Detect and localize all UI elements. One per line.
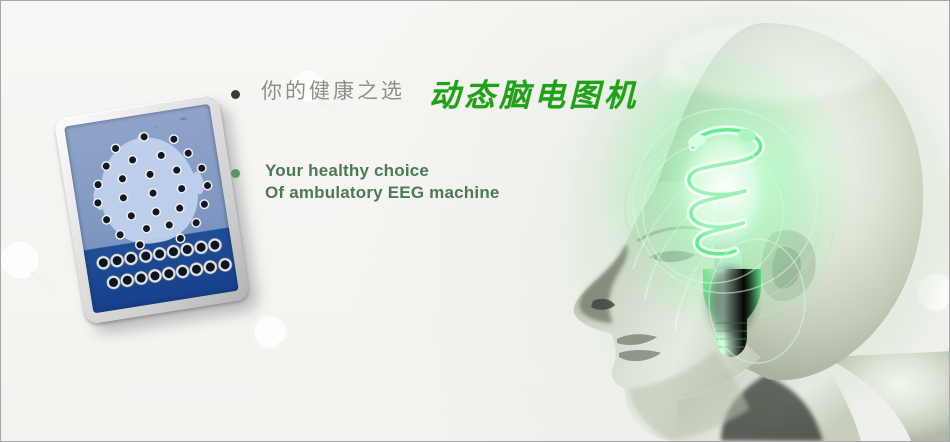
electrode-socket <box>168 247 178 257</box>
socket-layer <box>64 104 209 127</box>
electrode-contact <box>151 207 159 215</box>
electrode-contact <box>170 136 178 144</box>
english-tagline-line1: Your healthy choice <box>265 161 429 180</box>
electrode-layer <box>64 104 209 127</box>
eeg-product-banner: L REF 你的健康之选 动态脑电图机 Your healthy choice … <box>0 0 950 442</box>
electrode-socket <box>140 251 150 261</box>
device-electrode-panel: L REF <box>64 104 239 314</box>
electrode-socket <box>210 240 220 250</box>
electrode-contact <box>192 218 200 226</box>
english-tagline: Your healthy choice Of ambulatory EEG ma… <box>265 160 500 204</box>
chinese-product-title: 动态脑电图机 <box>429 81 639 112</box>
electrode-contact <box>128 156 136 164</box>
electrode-contact <box>142 224 150 232</box>
bullet-green-icon <box>231 169 240 178</box>
electrode-contact <box>184 149 192 157</box>
electrode-socket <box>196 242 206 252</box>
electrode-socket <box>192 264 202 274</box>
electrode-socket <box>206 262 216 272</box>
electrode-socket <box>220 260 230 270</box>
chinese-subtitle: 你的健康之选 <box>261 81 405 102</box>
electrode-contact <box>127 211 135 219</box>
ambulatory-eeg-headbox: L REF <box>54 93 250 324</box>
device-casing: L REF <box>54 93 250 324</box>
electrode-contact <box>201 200 209 208</box>
magnifier-watermark <box>253 315 285 347</box>
english-tagline-line2: Of ambulatory EEG machine <box>265 183 500 202</box>
magnifier-watermark <box>0 240 38 278</box>
headline-row-chinese: 你的健康之选 动态脑电图机 <box>231 81 631 112</box>
panel-label-ref: REF <box>180 117 187 122</box>
magnifier-lens-icon <box>0 240 40 280</box>
electrode-socket <box>98 258 108 268</box>
magnifier-handle-icon <box>30 271 71 304</box>
electrode-socket <box>164 268 174 278</box>
electrode-contact <box>198 164 206 172</box>
magnifier-lens-icon <box>253 315 287 349</box>
electrode-socket <box>178 266 188 276</box>
electrode-contact <box>136 241 144 249</box>
electrode-socket <box>136 273 146 283</box>
electrode-socket <box>126 253 136 263</box>
electrode-contact <box>148 189 156 197</box>
bullet-dark-icon <box>231 90 240 99</box>
electrode-contact <box>102 215 110 223</box>
headline-row-english: Your healthy choice Of ambulatory EEG ma… <box>231 160 631 204</box>
electrode-contact <box>146 170 154 178</box>
electrode-socket <box>154 249 164 259</box>
head-map-graphic <box>92 130 204 250</box>
electrode-contact <box>204 182 212 190</box>
copy-block: 你的健康之选 动态脑电图机 Your healthy choice Of amb… <box>231 81 631 204</box>
electrode-contact <box>176 234 184 242</box>
electrode-contact <box>177 184 185 192</box>
electrode-contact <box>94 180 102 188</box>
electrode-socket <box>112 255 122 265</box>
electrode-socket <box>122 275 132 285</box>
human-head-profile-with-glowing-bulb <box>525 1 950 441</box>
panel-label-l: L <box>156 125 158 129</box>
electrode-socket <box>182 244 192 254</box>
electrode-contact <box>118 175 126 183</box>
magnifier-handle-icon <box>278 341 312 370</box>
electrode-socket <box>150 271 160 281</box>
electrode-socket <box>108 277 118 287</box>
